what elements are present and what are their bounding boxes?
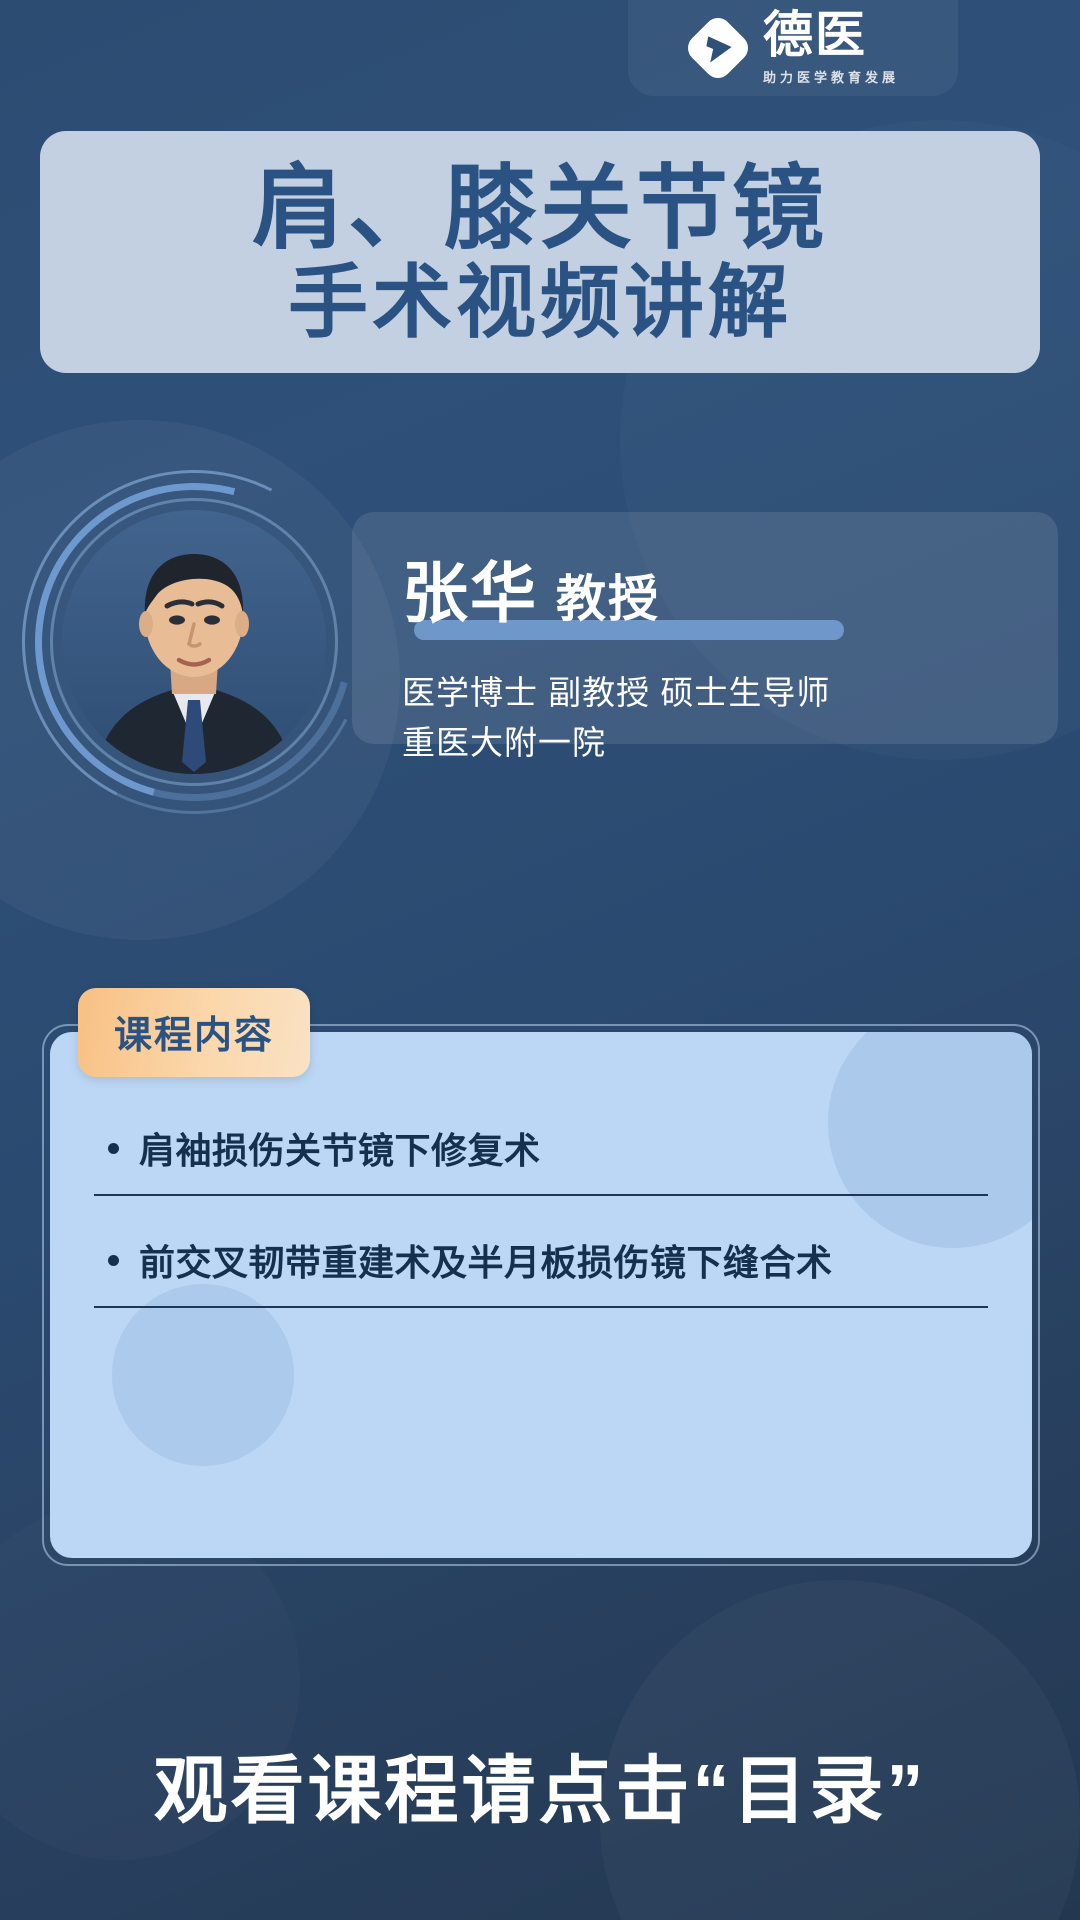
title-line-1: 肩、膝关节镜 — [252, 161, 828, 258]
poster-title-card: 肩、膝关节镜 手术视频讲解 — [40, 131, 1040, 373]
bullet-icon — [108, 1143, 119, 1154]
cta-text: 观看课程请点击“目录” — [0, 1731, 1080, 1838]
course-item-label: 肩袖损伤关节镜下修复术 — [139, 1122, 541, 1174]
course-item-label: 前交叉韧带重建术及半月板损伤镜下缝合术 — [139, 1234, 833, 1286]
list-item[interactable]: 前交叉韧带重建术及半月板损伤镜下缝合术 — [94, 1220, 988, 1308]
title-line-2: 手术视频讲解 — [288, 259, 792, 347]
brand-header: 德医 助力医学教育发展 — [628, 0, 958, 96]
bullet-icon — [108, 1255, 119, 1266]
speaker-credentials: 医学博士 副教授 硕士生导师 重医大附一院 — [402, 668, 1058, 767]
card-decor-circle-bottom — [112, 1284, 294, 1466]
speaker-section: 张华 教授 医学博士 副教授 硕士生导师 重医大附一院 — [0, 450, 1080, 780]
speaker-info-card: 张华 教授 医学博士 副教授 硕士生导师 重医大附一院 — [352, 512, 1058, 744]
speaker-name: 张华 — [402, 540, 538, 636]
course-poster: 德医 助力医学教育发展 肩、膝关节镜 手术视频讲解 — [0, 0, 1080, 1920]
speaker-name-row: 张华 教授 — [402, 540, 660, 642]
credential-line: 医学博士 副教授 硕士生导师 — [402, 668, 1058, 718]
speaker-portrait — [62, 510, 326, 774]
content-badge: 课程内容 — [78, 988, 310, 1077]
avatar — [22, 470, 366, 814]
course-content-section: 肩袖损伤关节镜下修复术 前交叉韧带重建术及半月板损伤镜下缝合术 课程内容 — [42, 988, 1040, 1378]
credential-line: 重医大附一院 — [402, 718, 1058, 768]
play-diamond-icon — [687, 17, 749, 79]
speaker-title: 教授 — [556, 559, 660, 631]
content-card: 肩袖损伤关节镜下修复术 前交叉韧带重建术及半月板损伤镜下缝合术 — [50, 1032, 1032, 1558]
list-item[interactable]: 肩袖损伤关节镜下修复术 — [94, 1108, 988, 1196]
brand-tagline: 助力医学教育发展 — [763, 67, 899, 86]
brand-name: 德医 — [763, 10, 867, 60]
